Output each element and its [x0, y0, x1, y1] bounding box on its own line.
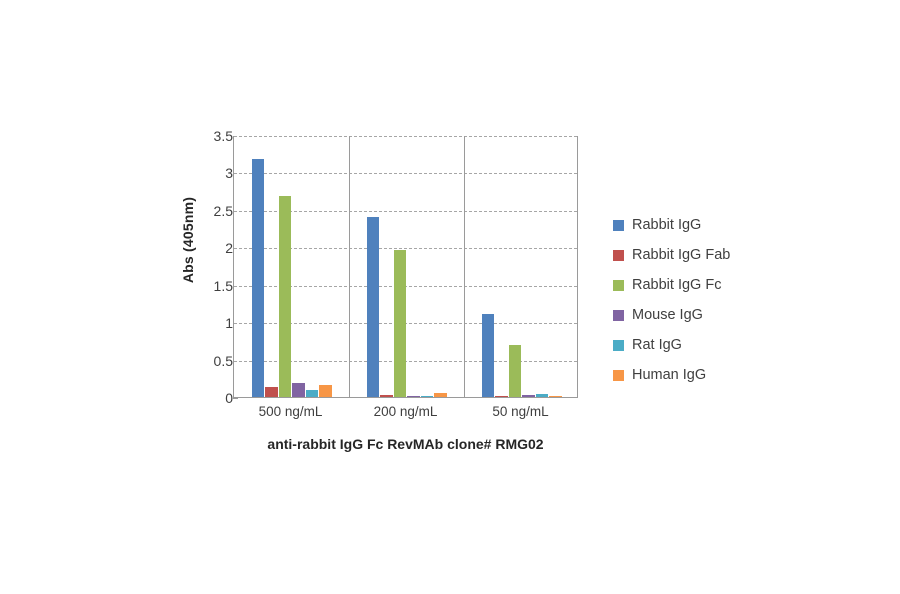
y-axis-tick-label: 1 — [189, 315, 233, 331]
legend-swatch-icon — [613, 310, 624, 321]
legend-label: Mouse IgG — [632, 307, 703, 323]
x-axis-category-label: 500 ng/mL — [233, 404, 348, 419]
legend-swatch-icon — [613, 370, 624, 381]
y-axis-tick-label: 3 — [189, 165, 233, 181]
legend-item[interactable]: Rat IgG — [613, 330, 730, 360]
y-axis-tick-label: 0.5 — [189, 353, 233, 369]
bar-chart: Abs (405nm) 00.511.522.533.5 500 ng/mL20… — [0, 0, 900, 594]
y-axis-tick-label: 0 — [189, 390, 233, 406]
bar — [421, 396, 434, 397]
bar-group — [464, 136, 579, 397]
legend-item[interactable]: Rabbit IgG Fc — [613, 270, 730, 300]
y-axis-tick-label: 2.5 — [189, 203, 233, 219]
bar — [306, 390, 319, 397]
bar — [252, 159, 265, 397]
legend-label: Rabbit IgG Fc — [632, 277, 721, 293]
bar — [367, 217, 380, 397]
bar-group — [234, 136, 349, 397]
legend-item[interactable]: Rabbit IgG Fab — [613, 240, 730, 270]
x-axis-category-label: 200 ng/mL — [348, 404, 463, 419]
legend-label: Rabbit IgG Fab — [632, 247, 730, 263]
bar — [394, 250, 407, 397]
bar — [549, 396, 562, 397]
bar — [434, 393, 447, 397]
bar-group — [349, 136, 464, 397]
legend-label: Rat IgG — [632, 337, 682, 353]
bar — [319, 385, 332, 397]
legend-item[interactable]: Human IgG — [613, 360, 730, 390]
x-axis-category-label: 50 ng/mL — [463, 404, 578, 419]
legend-swatch-icon — [613, 340, 624, 351]
bar — [292, 383, 305, 397]
plot-area — [233, 136, 578, 398]
chart-legend: Rabbit IgGRabbit IgG FabRabbit IgG FcMou… — [613, 210, 730, 390]
bar — [522, 395, 535, 397]
bar — [509, 345, 522, 397]
legend-swatch-icon — [613, 280, 624, 291]
y-axis-tick-label: 2 — [189, 240, 233, 256]
bar — [407, 396, 420, 397]
bar — [482, 314, 495, 397]
y-axis-tick-label: 3.5 — [189, 128, 233, 144]
bar — [495, 396, 508, 397]
y-axis-tick-label: 1.5 — [189, 278, 233, 294]
bar — [536, 394, 549, 397]
y-axis-ticks: 00.511.522.533.5 — [179, 136, 233, 398]
x-axis-title: anti-rabbit IgG Fc RevMAb clone# RMG02 — [233, 436, 578, 452]
bar — [380, 395, 393, 397]
bar — [279, 196, 292, 397]
legend-item[interactable]: Mouse IgG — [613, 300, 730, 330]
y-axis-tick-mark — [233, 398, 238, 399]
legend-swatch-icon — [613, 220, 624, 231]
legend-label: Rabbit IgG — [632, 217, 701, 233]
legend-swatch-icon — [613, 250, 624, 261]
bar — [265, 387, 278, 397]
legend-item[interactable]: Rabbit IgG — [613, 210, 730, 240]
legend-label: Human IgG — [632, 367, 706, 383]
